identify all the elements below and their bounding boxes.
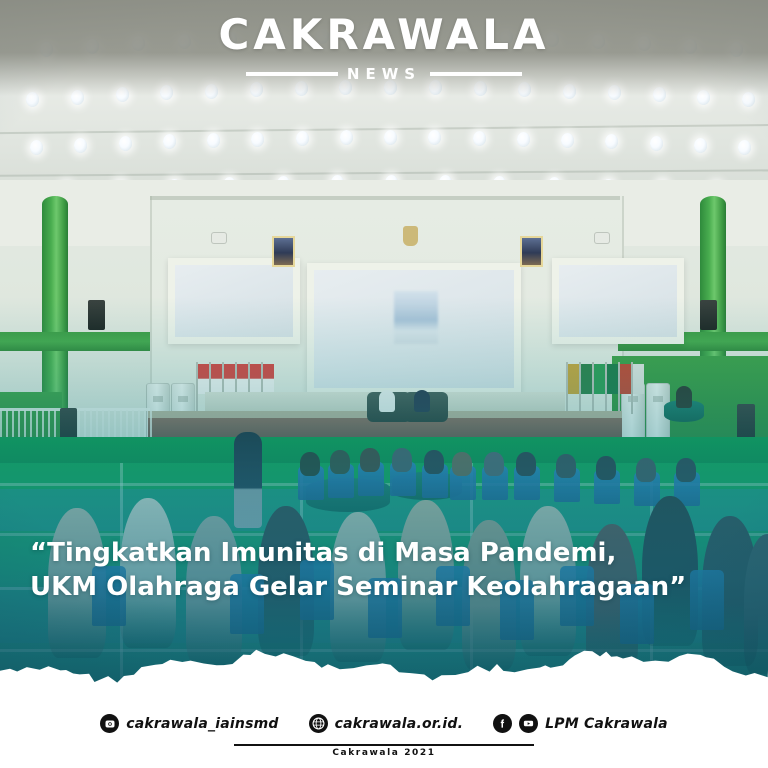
rule-left bbox=[246, 72, 338, 76]
social-link[interactable]: cakrawala.or.id. bbox=[309, 714, 464, 733]
brand-logo: CAKRAWALA NEWS bbox=[0, 14, 768, 83]
instagram-icon[interactable] bbox=[100, 714, 119, 733]
youtube-icon[interactable] bbox=[519, 714, 538, 733]
social-handle: cakrawala.or.id. bbox=[335, 716, 464, 732]
copyright-text: Cakrawala 2021 bbox=[0, 748, 768, 758]
social-link[interactable]: LPM Cakrawala bbox=[493, 714, 668, 733]
headline: “Tingkatkan Imunitas di Masa Pandemi, UK… bbox=[30, 536, 650, 605]
social-handle: cakrawala_iainsmd bbox=[126, 716, 278, 732]
footer-bar: cakrawala_iainsmdcakrawala.or.id.LPM Cak… bbox=[0, 700, 768, 768]
news-poster: CAKRAWALA NEWS “Tingkatkan Imunitas di M… bbox=[0, 0, 768, 768]
brand-name: CAKRAWALA bbox=[0, 14, 768, 56]
facebook-icon[interactable] bbox=[493, 714, 512, 733]
headline-line-1: “Tingkatkan Imunitas di Masa Pandemi, bbox=[30, 536, 650, 570]
footer-divider bbox=[234, 744, 534, 746]
social-link[interactable]: cakrawala_iainsmd bbox=[100, 714, 278, 733]
social-links: cakrawala_iainsmdcakrawala.or.id.LPM Cak… bbox=[0, 714, 768, 733]
headline-line-2: UKM Olahraga Gelar Seminar Keolahragaan” bbox=[30, 570, 650, 604]
globe-icon[interactable] bbox=[309, 714, 328, 733]
rule-right bbox=[430, 72, 522, 76]
social-handle: LPM Cakrawala bbox=[545, 716, 668, 732]
brand-sub: NEWS bbox=[0, 65, 768, 83]
brand-sub-label: NEWS bbox=[347, 65, 421, 83]
